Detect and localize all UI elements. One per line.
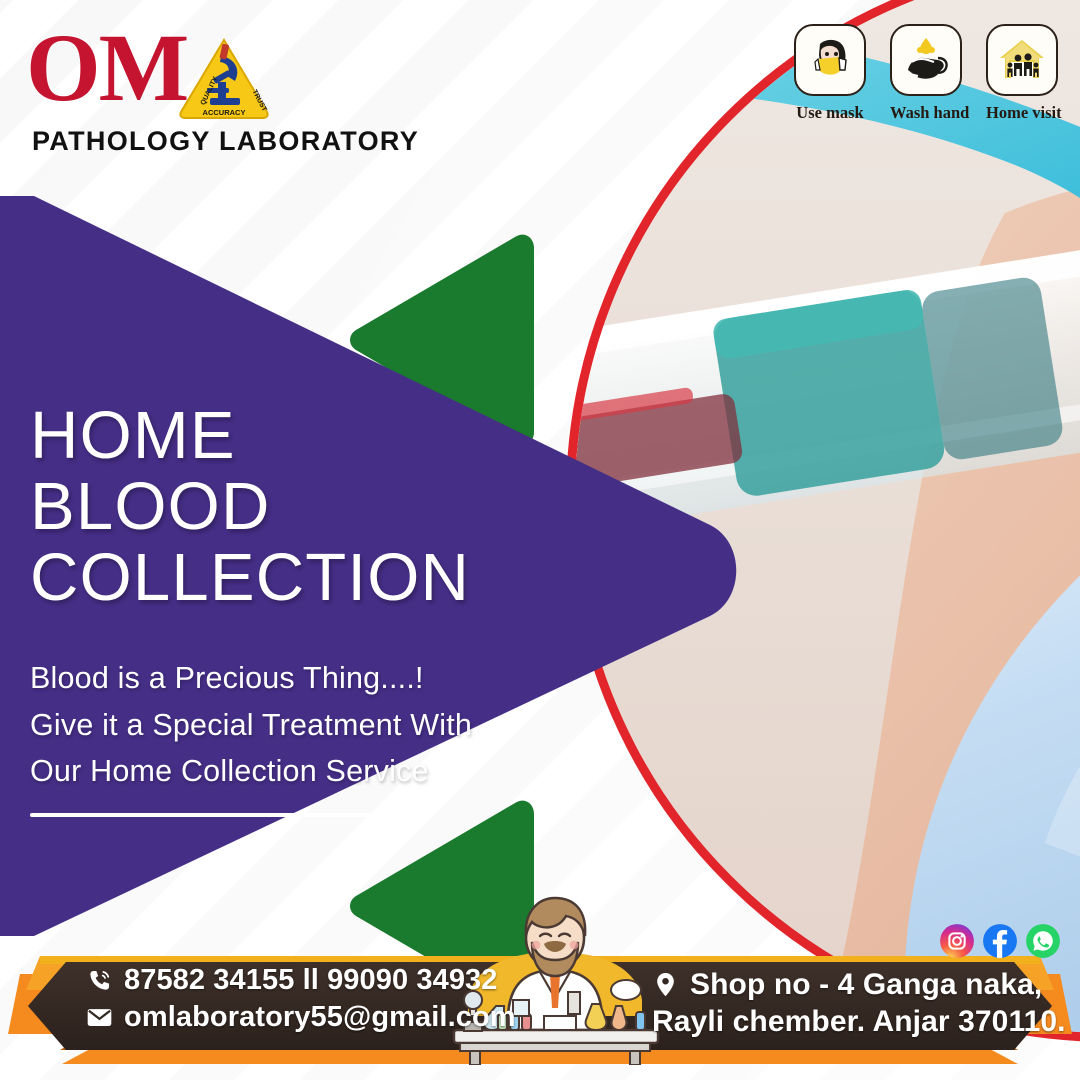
contact-block-right: Shop no - 4 Ganga naka, Rayli chember. A… (652, 966, 1066, 1040)
headline-block: HOME BLOOD COLLECTION Blood is a Preciou… (30, 400, 550, 817)
subtext-block: Blood is a Precious Thing....! Give it a… (30, 655, 550, 817)
subtext-line-3: Our Home Collection Service (30, 748, 550, 795)
safety-badge-wash-hand[interactable]: Wash hand (890, 24, 962, 123)
phone-icon (86, 967, 113, 994)
safety-badge-label: Home visit (986, 103, 1058, 123)
facebook-icon[interactable] (983, 924, 1017, 958)
face-mask-icon (802, 32, 858, 88)
logo-tagline: PATHOLOGY LABORATORY (32, 126, 419, 157)
whatsapp-icon[interactable] (1026, 924, 1060, 958)
subtext-line-2: Give it a Special Treatment With (30, 702, 550, 749)
contact-block-left: 87582 34155 ll 99090 34932 omlaboratory5… (86, 962, 516, 1036)
wash-hands-icon (898, 32, 954, 88)
envelope-icon (86, 1004, 113, 1031)
map-pin-icon (652, 971, 679, 998)
address-row-2[interactable]: Rayli chember. Anjar 370110. (652, 1003, 1066, 1040)
instagram-icon[interactable] (940, 924, 974, 958)
safety-badge-label: Use mask (794, 103, 866, 123)
divider-rule (30, 813, 374, 817)
address-line-2: Rayli chember. Anjar 370110. (652, 1005, 1066, 1039)
home-visit-icon (994, 32, 1050, 88)
email-address: omlaboratory55@gmail.com (124, 1001, 516, 1034)
address-row-1[interactable]: Shop no - 4 Ganga naka, (652, 966, 1066, 1003)
microscope-triangle-icon: QUALITY TRUST ACCURACY (177, 36, 271, 120)
headline-line-1: HOME (30, 400, 550, 471)
safety-badge-use-mask[interactable]: Use mask (794, 24, 866, 123)
subtext-line-1: Blood is a Precious Thing....! (30, 655, 550, 702)
address-line-1: Shop no - 4 Ganga naka, (690, 968, 1042, 1002)
safety-badges: Use mask Wash hand (794, 24, 1058, 123)
safety-badge-home-visit[interactable]: Home visit (986, 24, 1058, 123)
email-row[interactable]: omlaboratory55@gmail.com (86, 999, 516, 1036)
headline-line-3: COLLECTION (30, 542, 550, 613)
poster-canvas: OM QUALITY TRUST ACCURACY PATHOLOGY LABO… (0, 0, 1080, 1080)
headline-line-2: BLOOD (30, 471, 550, 542)
phone-row[interactable]: 87582 34155 ll 99090 34932 (86, 962, 516, 999)
logo-wordmark: OM (26, 22, 187, 113)
social-links (940, 924, 1060, 958)
svg-text:ACCURACY: ACCURACY (203, 108, 246, 117)
phone-number: 87582 34155 ll 99090 34932 (124, 964, 498, 997)
brand-logo[interactable]: OM QUALITY TRUST ACCURACY PATHOLOGY LABO… (26, 22, 419, 157)
safety-badge-label: Wash hand (890, 103, 962, 123)
